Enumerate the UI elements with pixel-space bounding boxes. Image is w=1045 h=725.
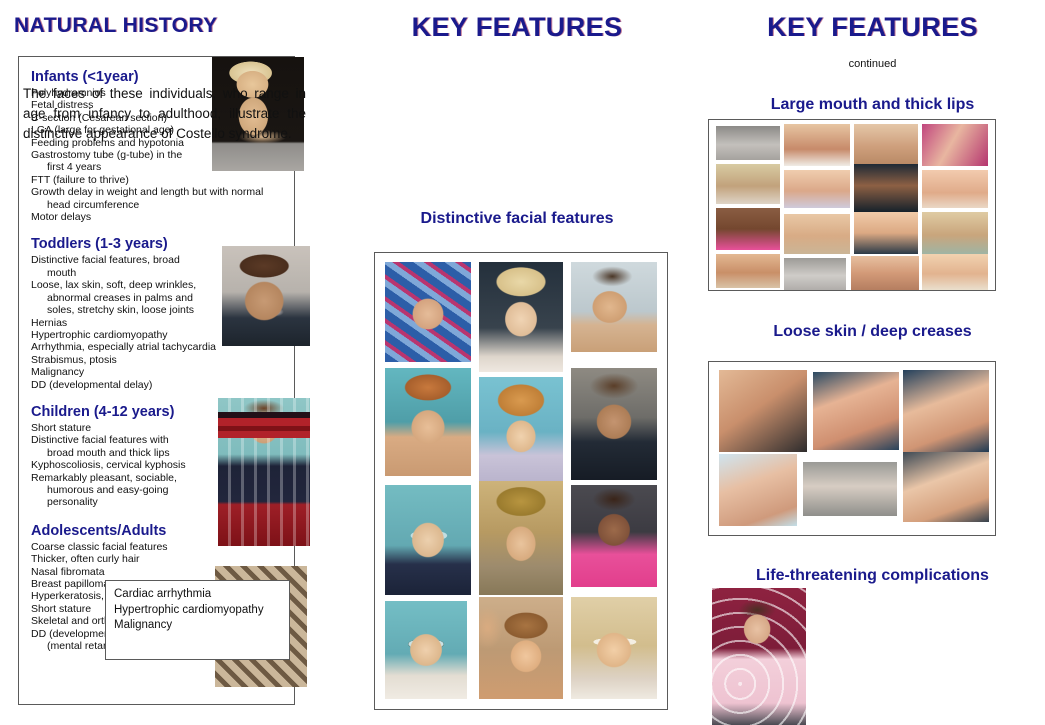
mouth-photo — [784, 214, 850, 254]
continued-note: continued — [700, 58, 1045, 70]
face-photo — [571, 597, 657, 699]
photo-child-plaid-skirt — [218, 398, 310, 546]
face-photo — [479, 262, 563, 372]
life-threatening-list: Cardiac arrhythmia Hypertrophic cardiomy… — [114, 587, 294, 634]
foot-photo — [803, 462, 897, 516]
section-heading-loose-skin-deep-creases: Loose skin / deep creases — [700, 323, 1045, 341]
hand-photo — [903, 370, 989, 452]
face-photo — [385, 262, 471, 362]
loose-skin-photo-box — [708, 361, 996, 536]
face-photo — [479, 597, 563, 699]
foot-photo — [903, 452, 989, 522]
page-title-key-features: KEY FEATURES — [352, 12, 682, 43]
list-item: Motor delays — [31, 211, 293, 223]
mouth-photo — [854, 164, 918, 212]
mouth-photo — [922, 124, 988, 166]
list-item: Hypertrophic cardiomyopathy — [114, 603, 294, 619]
list-item: head circumference — [31, 199, 293, 211]
face-photo — [571, 485, 657, 587]
list-item: Cardiac arrhythmia — [114, 587, 294, 603]
mouth-photo — [784, 170, 850, 208]
face-photo — [479, 377, 563, 483]
face-photo — [479, 481, 563, 595]
list-item: FTT (failure to thrive) — [31, 174, 293, 186]
face-photo — [571, 262, 657, 352]
large-mouth-photo-box — [708, 119, 996, 291]
mouth-photo — [716, 126, 780, 160]
photo-toddler-face — [222, 246, 310, 346]
list-item: Malignancy — [114, 618, 294, 634]
page-title-natural-history: NATURAL HISTORY — [14, 14, 314, 38]
mouth-photo — [854, 124, 918, 164]
face-photo — [385, 485, 471, 595]
mouth-photo — [716, 254, 780, 288]
key-features-column: KEY FEATURES — [352, 12, 682, 43]
mouth-photo — [854, 212, 918, 254]
list-item: Thicker, often curly hair — [31, 553, 293, 565]
loose-skin-photo-grid — [709, 362, 995, 535]
list-item: Strabismus, ptosis — [31, 354, 293, 366]
list-item: DD (developmental delay) — [31, 379, 293, 391]
hand-photo — [719, 370, 807, 452]
list-item: Malignancy — [31, 366, 293, 378]
natural-history-column: NATURAL HISTORY — [14, 14, 314, 38]
mouth-photo — [784, 258, 846, 290]
section-heading-distinctive-facial-features: Distinctive facial features — [352, 210, 682, 228]
intro-paragraph: The faces of these individuals, who rang… — [23, 84, 306, 144]
mouth-photo — [851, 256, 919, 290]
face-photo — [385, 368, 471, 476]
photo-child-round-glasses — [878, 624, 986, 725]
distinctive-faces-photo-box — [374, 252, 668, 710]
list-item: Growth delay in weight and length but wi… — [31, 186, 293, 198]
hand-photo — [813, 372, 899, 450]
face-photo — [571, 368, 657, 480]
life-threatening-list-box: Cardiac arrhythmia Hypertrophic cardiomy… — [105, 580, 290, 660]
faces-photo-grid — [375, 253, 667, 709]
mouth-photo — [922, 212, 988, 254]
mouth-photo — [922, 254, 988, 290]
mouth-photo — [716, 164, 780, 204]
mouth-photo — [922, 170, 988, 208]
section-heading-large-mouth-thick-lips: Large mouth and thick lips — [700, 96, 1045, 114]
page-title-key-features-continued: KEY FEATURES — [700, 12, 1045, 43]
section-heading-life-threatening-complications: Life-threatening complications — [700, 567, 1045, 585]
key-features-continued-column: KEY FEATURES continued Large mouth and t… — [700, 12, 1045, 43]
photo-girl-pink-sweater — [712, 588, 806, 725]
face-photo — [385, 601, 467, 699]
mouth-photo — [784, 124, 850, 166]
lips-photo-grid — [709, 120, 995, 290]
hand-photo — [719, 454, 797, 526]
mouth-photo — [716, 208, 780, 250]
